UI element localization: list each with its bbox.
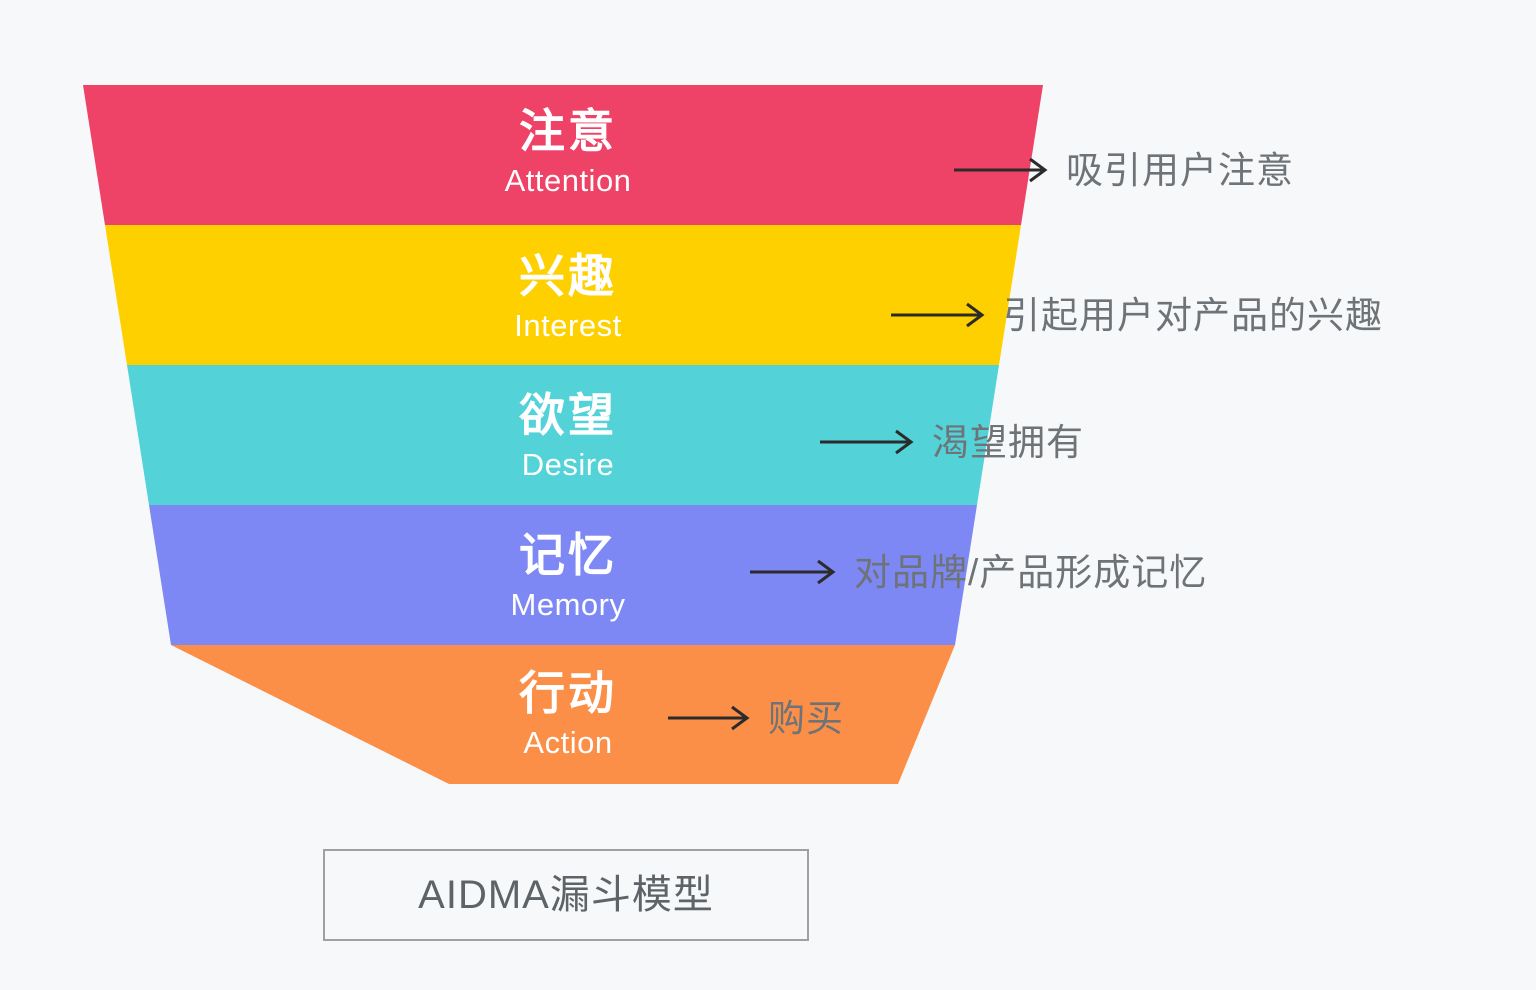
funnel-band-interest <box>105 225 1021 365</box>
callout-desire: 渴望拥有 <box>818 422 1084 462</box>
callout-interest-text: 引起用户对产品的兴趣 <box>1003 297 1383 334</box>
funnel-band-attention <box>83 85 1043 225</box>
callout-memory: 对品牌/产品形成记忆 <box>748 552 1207 592</box>
arrow-right-icon <box>889 295 989 335</box>
caption-box: AIDMA漏斗模型 <box>323 849 809 941</box>
callout-action-text: 购买 <box>768 700 844 737</box>
arrow-right-icon <box>748 552 840 592</box>
callout-interest: 引起用户对产品的兴趣 <box>889 295 1383 335</box>
caption-title: AIDMA漏斗模型 <box>418 875 714 915</box>
callout-desire-text: 渴望拥有 <box>932 424 1084 461</box>
arrow-right-icon <box>818 422 918 462</box>
callout-attention: 吸引用户注意 <box>952 150 1294 190</box>
arrow-right-icon <box>666 698 754 738</box>
funnel-diagram: 注意 Attention 兴趣 Interest 欲望 Desire 记忆 Me… <box>0 0 1536 990</box>
callout-attention-text: 吸引用户注意 <box>1066 152 1294 189</box>
callout-action: 购买 <box>666 698 844 738</box>
callout-memory-text: 对品牌/产品形成记忆 <box>854 554 1207 591</box>
funnel-shape <box>0 0 1536 990</box>
arrow-right-icon <box>952 150 1052 190</box>
